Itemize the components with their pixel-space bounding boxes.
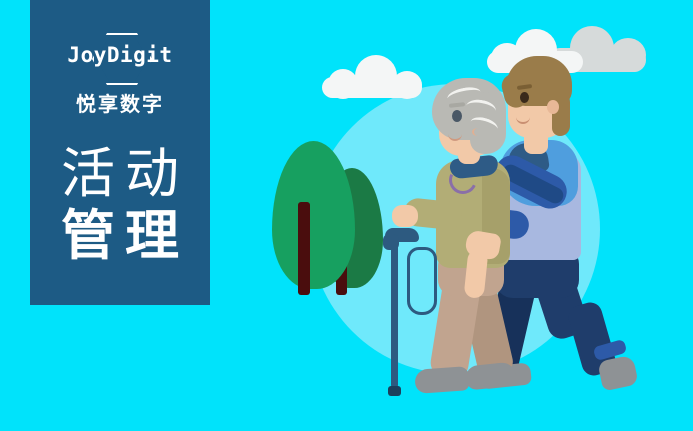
- page-title-line-2: 管理: [30, 205, 210, 267]
- brand-chinese-name: 悦享数字: [35, 88, 205, 117]
- title-panel: JoyDigit 悦享数字 活动 管理: [30, 0, 210, 305]
- cane-tip: [388, 386, 401, 396]
- poster-canvas: JoyDigit 悦享数字 活动 管理: [0, 0, 693, 431]
- cane-shaft: [391, 244, 398, 388]
- page-title-line-1: 活动: [30, 143, 210, 205]
- cane-wrist-strap: [407, 247, 437, 315]
- page-title: 活动 管理: [30, 143, 210, 267]
- brand-logo: JoyDigit: [45, 34, 195, 80]
- brand-wordmark: JoyDigit: [45, 43, 195, 67]
